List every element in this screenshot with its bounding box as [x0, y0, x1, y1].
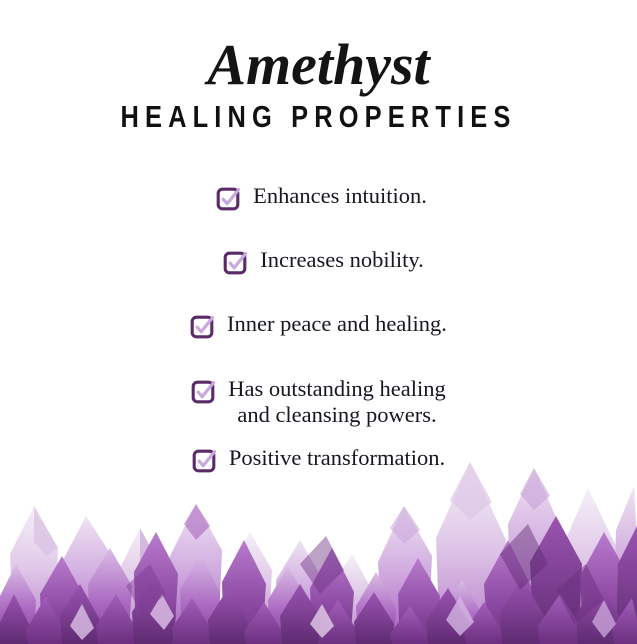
checked-checkbox-icon: [191, 381, 214, 404]
checked-checkbox-icon: [223, 252, 246, 275]
list-item: Increases nobility.: [0, 247, 637, 281]
page-title: Amethyst: [0, 34, 637, 96]
poster-canvas: Amethyst HEALING PROPERTIES Enhances int…: [0, 0, 637, 644]
checked-checkbox-icon: [216, 188, 239, 211]
checked-checkbox-icon: [190, 316, 213, 339]
list-item: Enhances intuition.: [0, 183, 637, 217]
header: Amethyst HEALING PROPERTIES: [0, 34, 637, 134]
list-item-label: Has outstanding healing and cleansing po…: [228, 376, 445, 428]
healing-properties-list: Enhances intuition. Increases nobility.: [0, 183, 637, 479]
amethyst-crystal-cluster-image: [0, 444, 637, 644]
list-item: Inner peace and healing.: [0, 311, 637, 345]
list-item: Has outstanding healing and cleansing po…: [0, 376, 637, 428]
page-subtitle: HEALING PROPERTIES: [57, 100, 579, 134]
list-item-label: Inner peace and healing.: [227, 311, 447, 337]
list-item-label: Enhances intuition.: [253, 183, 427, 209]
list-item-label: Increases nobility.: [260, 247, 424, 273]
